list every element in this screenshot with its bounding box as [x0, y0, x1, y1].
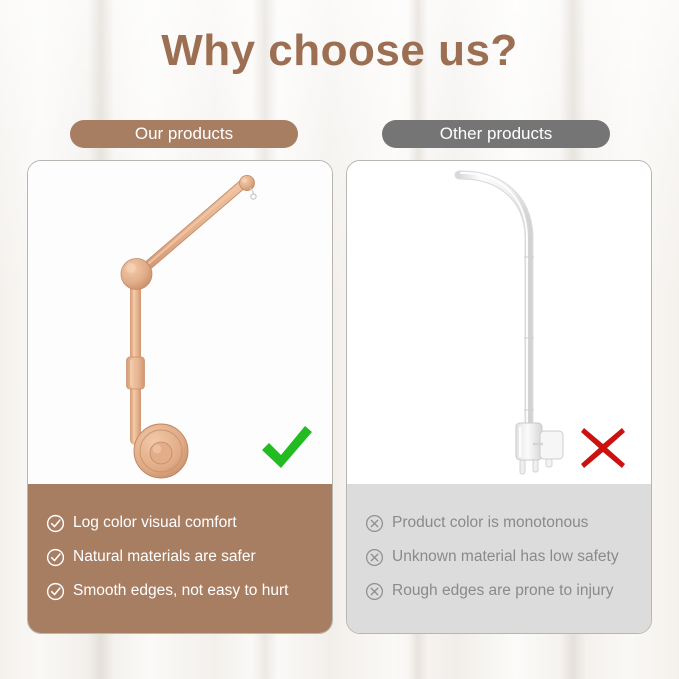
- list-item: Smooth edges, not easy to hurt: [46, 574, 332, 608]
- green-check-icon: [258, 422, 316, 479]
- white-curved-arm: [459, 173, 529, 429]
- feature-text: Rough edges are prone to injury: [392, 582, 613, 600]
- ball-joint: [121, 259, 152, 290]
- sleeve-collar: [127, 357, 145, 389]
- check-circle-icon: [46, 548, 65, 567]
- check-circle-icon: [46, 582, 65, 601]
- feature-text: Natural materials are safer: [73, 548, 256, 566]
- cross-circle-icon: [365, 548, 384, 567]
- list-item: Product color is monotonous: [365, 506, 651, 540]
- wood-arm: [138, 183, 244, 274]
- red-cross-icon: [578, 424, 628, 477]
- check-circle-icon: [46, 514, 65, 533]
- mounting-base: [134, 424, 188, 478]
- feature-text: Smooth edges, not easy to hurt: [73, 582, 288, 600]
- clamp-bracket: [516, 423, 563, 474]
- feature-text: Product color is monotonous: [392, 514, 588, 532]
- our-features-panel: Log color visual comfort Natural materia…: [28, 484, 332, 633]
- cross-circle-icon: [365, 582, 384, 601]
- list-item: Log color visual comfort: [46, 506, 332, 540]
- page-title: Why choose us?: [0, 26, 679, 76]
- other-features-panel: Product color is monotonous Unknown mate…: [347, 484, 651, 633]
- list-item: Unknown material has low safety: [365, 540, 651, 574]
- other-products-card: Product color is monotonous Unknown mate…: [346, 160, 652, 634]
- cross-circle-icon: [365, 514, 384, 533]
- our-products-header: Our products: [70, 120, 298, 148]
- our-products-card: Log color visual comfort Natural materia…: [27, 160, 333, 634]
- list-item: Natural materials are safer: [46, 540, 332, 574]
- other-products-header: Other products: [382, 120, 610, 148]
- feature-text: Log color visual comfort: [73, 514, 237, 532]
- list-item: Rough edges are prone to injury: [365, 574, 651, 608]
- feature-text: Unknown material has low safety: [392, 548, 619, 566]
- arm-tip-ring: [239, 175, 256, 199]
